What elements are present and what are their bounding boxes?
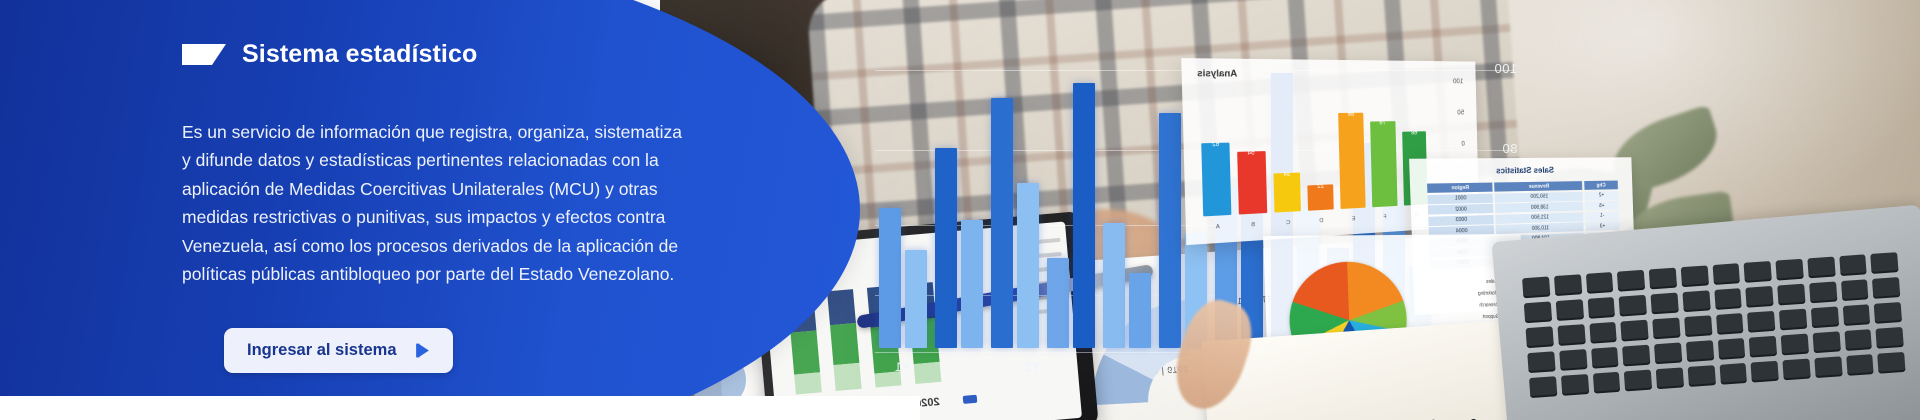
banner-content: Sistema estadístico Es un servicio de in… [182,0,702,420]
flag-parallelogram-icon [182,44,226,65]
heading-row: Sistema estadístico [182,40,477,69]
play-arrow-icon [414,342,431,359]
statistics-system-banner: Statistic ANALYSIS REPORT 2021 2021 | A … [0,0,1920,420]
description-paragraph: Es un servicio de información que regist… [182,118,682,289]
enter-system-button[interactable]: Ingresar al sistema [224,328,453,373]
page-title: Sistema estadístico [242,40,477,69]
enter-system-button-label: Ingresar al sistema [247,341,397,360]
